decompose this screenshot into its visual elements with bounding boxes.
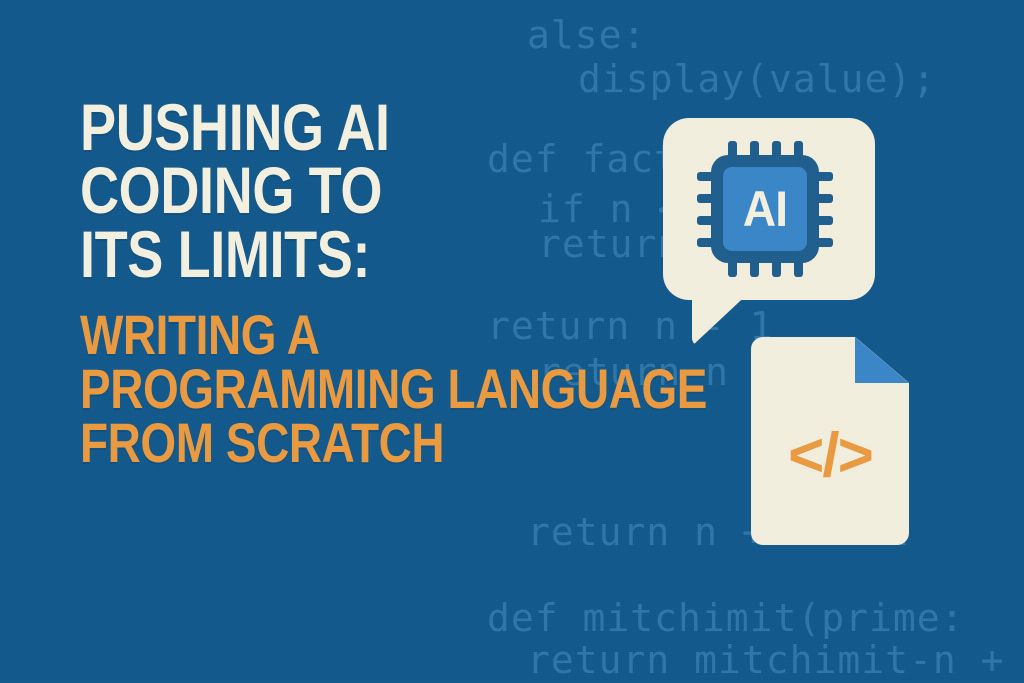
title-line-1: PUSHING AI: [80, 96, 707, 159]
poster-canvas: alse:display(value);def factorif n <=ret…: [0, 0, 1024, 683]
subtitle-line-2: PROGRAMMING LANGUAGE: [80, 362, 707, 416]
background-code-line: display(value);: [578, 57, 936, 101]
subtitle-line-3: FROM SCRATCH: [80, 416, 707, 470]
background-code-line: alse:: [527, 13, 646, 57]
subtitle-block: WRITING A PROGRAMMING LANGUAGE FROM SCRA…: [80, 308, 845, 469]
headline-block: PUSHING AI CODING TO ITS LIMITS: WRITING…: [80, 96, 845, 469]
background-code-line: return mitchimit-n + 1): [527, 638, 1024, 682]
title-line-3: ITS LIMITS:: [80, 223, 707, 286]
title-block: PUSHING AI CODING TO ITS LIMITS:: [80, 96, 845, 286]
title-line-2: CODING TO: [80, 159, 707, 222]
subtitle-line-1: WRITING A: [80, 308, 707, 362]
background-code-line: def mitchimit(prime:: [487, 596, 965, 640]
